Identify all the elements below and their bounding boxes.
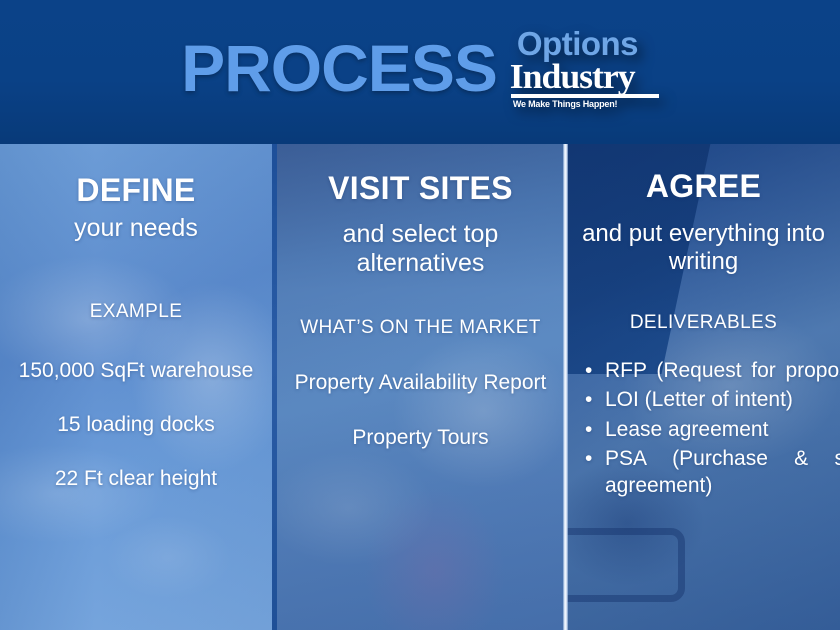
column-visit-sites-label: WHAT’S ON THE MARKET	[285, 317, 556, 340]
column-visit-sites-content: VISIT SITES and select top alternatives …	[277, 144, 564, 630]
logo-word-options: Options	[517, 29, 659, 59]
page-title: PROCESS	[181, 35, 497, 101]
options-industry-logo: Options Industry We Make Things Happen!	[511, 29, 659, 109]
column-visit-sites-heading: VISIT SITES	[285, 172, 556, 206]
logo-industry-block: Industry	[511, 60, 659, 98]
column-define-subheading: your needs	[8, 214, 264, 244]
list-item: Lease agreement	[605, 416, 840, 443]
column-agree-heading: AGREE	[575, 170, 832, 204]
column-define-label: EXAMPLE	[8, 301, 264, 324]
column-agree: AGREE and put everything into writing DE…	[567, 144, 840, 630]
column-define-content: DEFINE your needs EXAMPLE 150,000 SqFt w…	[0, 144, 272, 630]
list-item: PSA (Purchase & sale agreement)	[605, 445, 840, 500]
list-item: 22 Ft clear height	[8, 466, 264, 491]
column-divider-1	[272, 144, 277, 630]
column-visit-sites-subheading: and select top alternatives	[285, 220, 556, 279]
slide-header: PROCESS Options Industry We Make Things …	[0, 0, 840, 144]
column-define-items: 150,000 SqFt warehouse 15 loading docks …	[8, 358, 264, 492]
list-item: Property Availability Report	[285, 370, 556, 396]
column-define: DEFINE your needs EXAMPLE 150,000 SqFt w…	[0, 144, 272, 630]
process-columns: DEFINE your needs EXAMPLE 150,000 SqFt w…	[0, 144, 840, 630]
column-agree-content: AGREE and put everything into writing DE…	[567, 144, 840, 630]
list-item: Property Tours	[285, 425, 556, 451]
list-item: RFP (Request for proposal)	[605, 357, 840, 384]
column-divider-2	[563, 144, 568, 630]
list-item: 15 loading docks	[8, 412, 264, 437]
logo-tagline: We Make Things Happen!	[513, 99, 659, 109]
process-slide: PROCESS Options Industry We Make Things …	[0, 0, 840, 630]
column-agree-deliverables-list: RFP (Request for proposal) LOI (Letter o…	[575, 357, 832, 499]
column-define-heading: DEFINE	[8, 174, 264, 208]
list-item: 150,000 SqFt warehouse	[8, 358, 264, 383]
logo-word-industry: Industry	[510, 60, 635, 93]
list-item: LOI (Letter of intent)	[605, 386, 840, 413]
column-visit-sites: VISIT SITES and select top alternatives …	[277, 144, 564, 630]
header-content: PROCESS Options Industry We Make Things …	[0, 0, 840, 144]
column-agree-subheading: and put everything into writing	[575, 220, 832, 277]
column-agree-label: DELIVERABLES	[575, 312, 832, 335]
column-visit-sites-items: Property Availability Report Property To…	[285, 370, 556, 450]
